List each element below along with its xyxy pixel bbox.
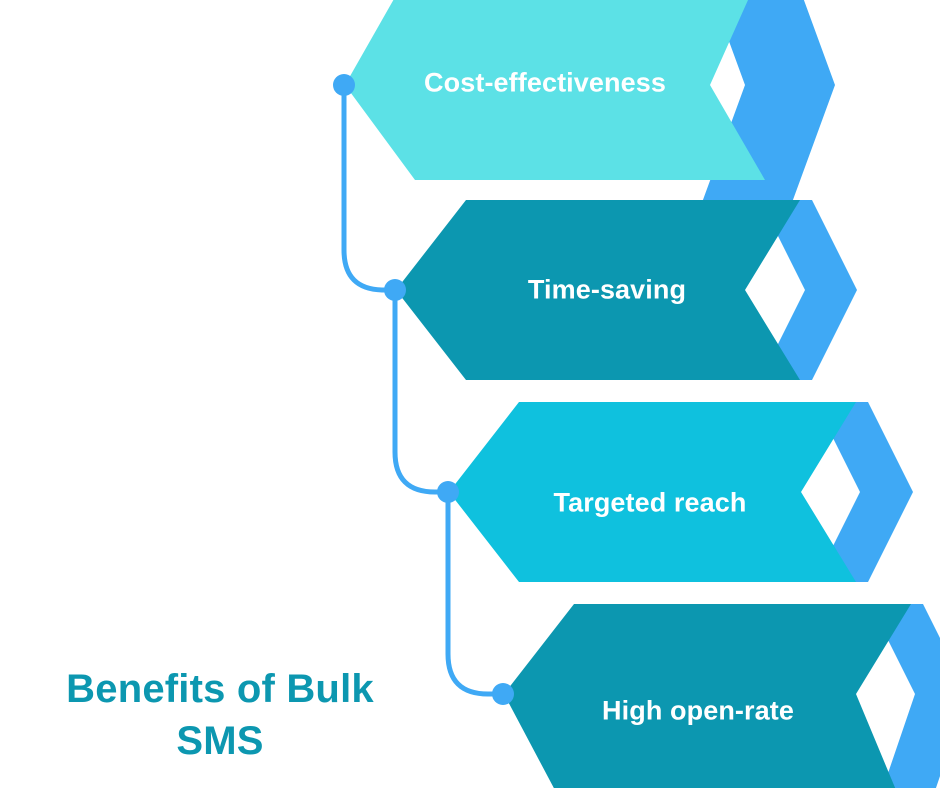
- step-3-group[interactable]: [449, 402, 913, 582]
- step-1-group[interactable]: [345, 0, 835, 208]
- step-3-node-dot[interactable]: [437, 481, 459, 503]
- page-title-line-2: SMS: [18, 715, 422, 767]
- step-1-node-dot[interactable]: [333, 74, 355, 96]
- page-title: Benefits of Bulk SMS: [18, 663, 422, 767]
- step-4-node-dot[interactable]: [492, 683, 514, 705]
- step-2-group[interactable]: [396, 200, 857, 380]
- step-4-group[interactable]: [504, 604, 940, 788]
- infographic-root: Cost-effectiveness Time-saving Targeted …: [0, 0, 940, 788]
- step-2-banner-shape[interactable]: [396, 200, 800, 380]
- step-1-banner-shape[interactable]: [345, 0, 765, 180]
- page-title-line-1: Benefits of Bulk: [18, 663, 422, 715]
- step-2-node-dot[interactable]: [384, 279, 406, 301]
- step-3-banner-shape[interactable]: [449, 402, 856, 582]
- step-4-banner-shape[interactable]: [504, 604, 911, 788]
